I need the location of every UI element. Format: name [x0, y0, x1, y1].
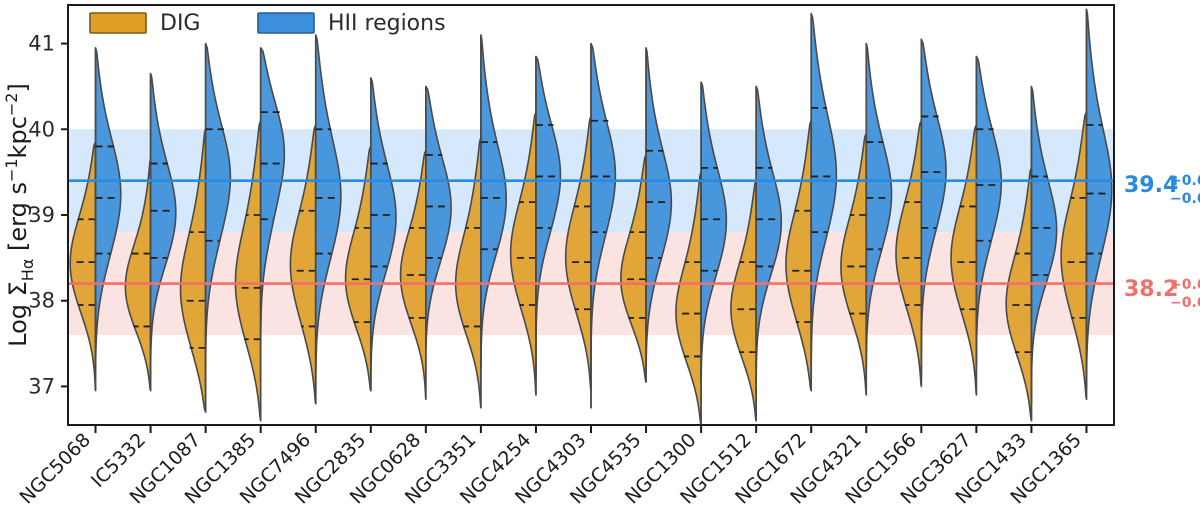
y-tick-label: 40 [28, 117, 55, 141]
violin-plot-figure: 3738394041 NGC5068IC5332NGC1087NGC1385NG… [0, 0, 1200, 516]
violin-body [316, 35, 341, 404]
y-axis-title-text: Log ΣHα [erg s−1kpc−2] [2, 83, 37, 347]
legend-label: HII regions [328, 11, 446, 36]
violin-hii-regions-NGC2835 [371, 78, 396, 391]
legend: DIGHII regions [90, 11, 446, 36]
annotation-upper-error: +0.6 [1170, 277, 1200, 293]
y-axis-title: Log ΣHα [erg s−1kpc−2] [2, 83, 37, 347]
y-tick-label: 41 [28, 32, 55, 56]
y-tick-label: 39 [28, 203, 55, 227]
median-annotations: 39.4+0.6−0.638.2+0.6−0.6 [1124, 173, 1200, 311]
annotation-lower-error: −0.6 [1170, 295, 1200, 311]
annotation-upper-error: +0.6 [1170, 173, 1200, 189]
violin-body [371, 78, 396, 391]
violin-hii-regions-NGC7496 [316, 35, 341, 404]
legend-swatch [90, 13, 146, 33]
y-tick-label: 37 [28, 374, 55, 398]
x-tick-label-NGC5068: NGC5068 [15, 429, 95, 509]
y-axis-title-group: Log ΣHα [erg s−1kpc−2] [2, 83, 37, 347]
annotation-lower-error: −0.6 [1170, 191, 1200, 207]
y-axis-ticks: 3738394041 [28, 32, 68, 399]
plot-canvas: 3738394041 NGC5068IC5332NGC1087NGC1385NG… [0, 0, 1200, 516]
legend-item-dig: DIG [90, 11, 200, 36]
dig-median-annotation: 38.2+0.6−0.6 [1124, 277, 1200, 311]
hii-median-annotation: 39.4+0.6−0.6 [1124, 173, 1200, 207]
legend-item-hii-regions: HII regions [258, 11, 446, 36]
x-axis-ticks: NGC5068IC5332NGC1087NGC1385NGC7496NGC283… [15, 425, 1086, 509]
violin-hii-regions-NGC1300 [701, 82, 726, 382]
violin-body [701, 82, 726, 382]
legend-swatch [258, 13, 314, 33]
y-tick-label: 38 [28, 289, 55, 313]
legend-label: DIG [160, 11, 200, 36]
